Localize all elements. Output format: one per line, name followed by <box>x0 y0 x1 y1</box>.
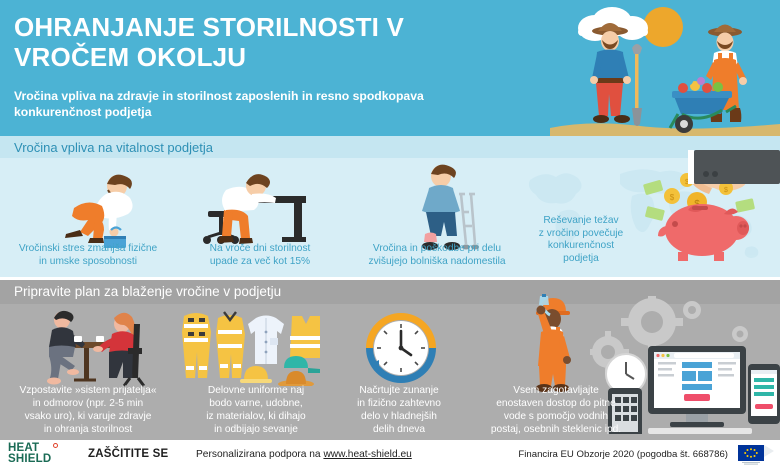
plan-caption-4: Vsem zagotavljajte enostaven dostop do p… <box>456 384 656 436</box>
infographic-page: OHRANJANJE STORILNOSTI V VROČEM OKOLJU V… <box>0 0 780 468</box>
footer-support-link[interactable]: www.heat-shield.eu <box>323 449 411 460</box>
plan-caption-1: Vzpostavite »sistem prijatelja« in odmor… <box>0 384 176 436</box>
vitality-caption-1: Vročinski stres zmanjša fizične in umske… <box>2 243 174 268</box>
footer-support-prefix: Personalizirana podpora na <box>196 449 323 460</box>
header-illustration <box>550 0 780 136</box>
eu-flag-icon <box>738 445 774 465</box>
logo-dot-icon <box>53 443 58 448</box>
vitality-caption-2: Na vroče dni storilnost upade za več kot… <box>182 243 338 268</box>
two-colleagues-at-table-break-icon <box>30 308 160 388</box>
header-banner: OHRANJANJE STORILNOSTI V VROČEM OKOLJU V… <box>0 0 780 136</box>
section-plan-title: Pripravite plan za blaženje vročine v po… <box>14 283 281 301</box>
page-title: OHRANJANJE STORILNOSTI V VROČEM OKOLJU <box>14 12 574 72</box>
vitality-caption-3: Vročina in poškodbe pri delu zvišujejo b… <box>340 243 534 268</box>
logo-line-shield: SHIELD <box>8 454 51 465</box>
svg-text:$: $ <box>670 193 675 202</box>
section-plan: Pripravite plan za blaženje vročine v po… <box>0 280 780 440</box>
plan-caption-3: Načrtujte zunanje in fizično zahtevno de… <box>334 384 464 436</box>
worker-bending-lifting-toolbox-icon <box>38 168 148 248</box>
worker-slumped-at-desk-icon <box>190 166 310 251</box>
section-vitality-title: Vročina vpliva na vitalnost podjetja <box>14 139 213 156</box>
plan-caption-2: Delovne uniforme naj bodo varne, udobne,… <box>174 384 338 436</box>
page-subtitle: Vročina vpliva na zdravje in storilnost … <box>14 88 554 120</box>
footer-funding-text: Financira EU Obzorje 2020 (pogodba št. 6… <box>518 449 728 460</box>
vitality-caption-4: Reševanje težav z vročino povečuje konku… <box>522 215 640 265</box>
work-uniforms-helmets-icon <box>178 308 320 386</box>
heat-shield-logo[interactable]: HEAT SHIELD <box>8 443 70 465</box>
footer-support-text: Personalizirana podpora na www.heat-shie… <box>196 449 412 460</box>
footer-claim: ZAŠČITITE SE <box>88 448 168 460</box>
worker-drinking-water-bottle-icon <box>510 294 590 394</box>
clock-schedule-icon <box>365 312 445 384</box>
injured-worker-on-crutches-icon <box>405 160 495 255</box>
section-vitality: Vročina vpliva na vitalnost podjetja <box>0 136 780 277</box>
footer-bar: HEAT SHIELD ZAŠČITITE SE Personalizirana… <box>0 440 780 468</box>
monitor-corner-icon <box>688 150 780 192</box>
